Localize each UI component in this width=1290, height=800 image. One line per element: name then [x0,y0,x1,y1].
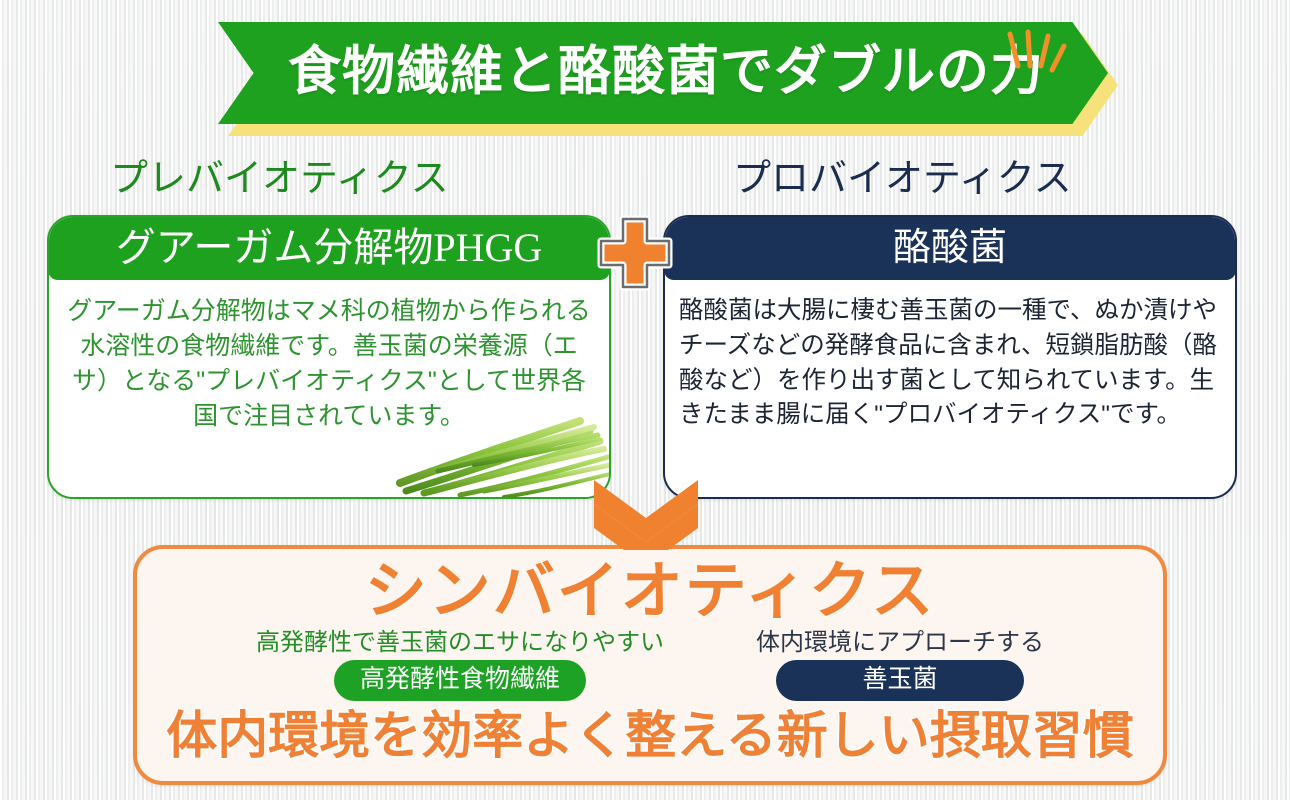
probiotics-card-title: 酪酸菌 [893,229,1007,267]
plus-icon [595,213,675,293]
bottom-headline: 体内環境を効率よく整える新しい摂取習慣 [137,709,1163,763]
synbiotics-column-fiber: 高発酵性で善玉菌のエサになりやすい 高発酵性食物繊維 [256,630,664,701]
fiber-caption: 高発酵性で善玉菌のエサになりやすい [256,630,664,656]
infographic-canvas: 食物繊維と酪酸菌でダブルの力 プレバイオティクス プロバイオティクス グアーガム… [0,0,1290,800]
bacteria-caption: 体内環境にアプローチする [756,630,1044,656]
synbiotics-columns: 高発酵性で善玉菌のエサになりやすい 高発酵性食物繊維 体内環境にアプローチする … [137,630,1163,701]
probiotics-label: プロバイオティクス [733,160,1072,198]
prebiotics-card-body: グアーガム分解物はマメ科の植物から作られる水溶性の食物繊維です。善玉菌の栄養源（… [49,280,609,444]
fiber-pill: 高発酵性食物繊維 [334,660,586,701]
synbiotics-title: シンバイオティクス [137,559,1163,624]
synbiotics-column-bacteria: 体内環境にアプローチする 善玉菌 [756,630,1044,701]
prebiotics-label: プレバイオティクス [110,160,449,198]
banner-title: 食物繊維と酪酸菌でダブルの力 [282,45,1044,101]
double-chevron-down-icon [578,478,714,550]
bacteria-pill: 善玉菌 [776,660,1023,701]
probiotics-card: 酪酸菌 酪酸菌は大腸に棲む善玉菌の一種で、ぬか漬けやチーズなどの発酵食品に含まれ… [663,215,1237,499]
probiotics-card-body: 酪酸菌は大腸に棲む善玉菌の一種で、ぬか漬けやチーズなどの発酵食品に含まれ、短鎖脂… [665,280,1235,443]
banner-ribbon: 食物繊維と酪酸菌でダブルの力 [218,22,1108,124]
prebiotics-card-header: グアーガム分解物PHGG [48,216,610,280]
prebiotics-card-title: グアーガム分解物PHGG [116,228,543,268]
probiotics-card-header: 酪酸菌 [664,216,1236,280]
synbiotics-box: シンバイオティクス 高発酵性で善玉菌のエサになりやすい 高発酵性食物繊維 体内環… [133,545,1167,785]
prebiotics-card: グアーガム分解物PHGG グアーガム分解物はマメ科の植物から作られる水溶性の食物… [47,215,611,499]
header-banner: 食物繊維と酪酸菌でダブルの力 [218,22,1118,136]
